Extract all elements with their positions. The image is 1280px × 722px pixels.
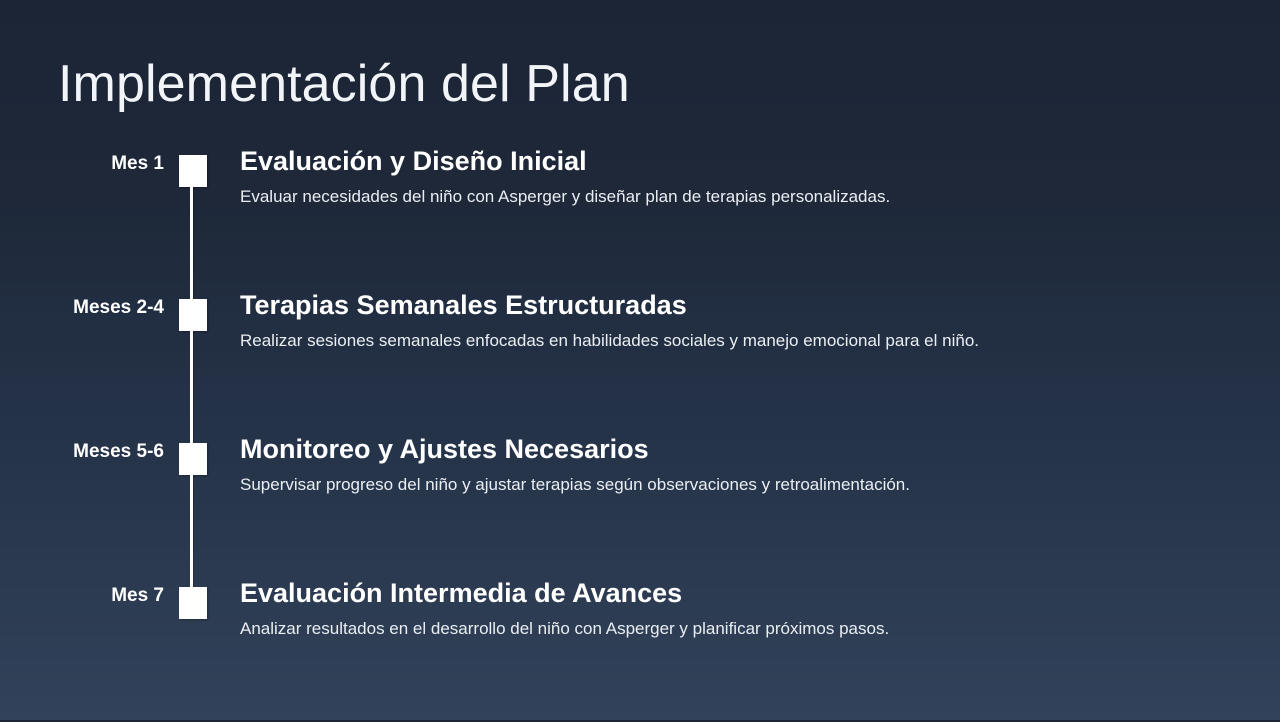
timeline-item: Meses 2-4 Terapias Semanales Estructurad… [0,290,1280,434]
timeline-period-label: Meses 5-6 [24,440,164,464]
timeline-item-description: Analizar resultados en el desarrollo del… [240,618,1240,641]
timeline-item-heading: Monitoreo y Ajustes Necesarios [240,434,1240,466]
timeline-item-body: Evaluación Intermedia de Avances Analiza… [240,578,1240,641]
timeline-period-label: Mes 7 [24,584,164,608]
timeline-period-label: Mes 1 [24,152,164,176]
timeline-item-description: Realizar sesiones semanales enfocadas en… [240,330,1240,353]
timeline-item-description: Evaluar necesidades del niño con Asperge… [240,186,1240,209]
timeline-period-label: Meses 2-4 [24,296,164,320]
timeline-item-body: Monitoreo y Ajustes Necesarios Supervisa… [240,434,1240,497]
timeline-item-heading: Evaluación Intermedia de Avances [240,578,1240,610]
timeline-connector-line [190,331,193,446]
page-title: Implementación del Plan [58,56,630,113]
timeline-square-marker-icon [179,155,207,187]
timeline-square-marker-icon [179,587,207,619]
timeline: Mes 1 Evaluación y Diseño Inicial Evalua… [0,146,1280,722]
timeline-item: Mes 7 Evaluación Intermedia de Avances A… [0,578,1280,722]
timeline-item-body: Terapias Semanales Estructuradas Realiza… [240,290,1240,353]
timeline-square-marker-icon [179,443,207,475]
timeline-item-description: Supervisar progreso del niño y ajustar t… [240,474,1240,497]
timeline-item-body: Evaluación y Diseño Inicial Evaluar nece… [240,146,1240,209]
timeline-connector-line [190,187,193,302]
timeline-item: Mes 1 Evaluación y Diseño Inicial Evalua… [0,146,1280,290]
timeline-square-marker-icon [179,299,207,331]
timeline-connector-line [190,475,193,590]
timeline-item-heading: Evaluación y Diseño Inicial [240,146,1240,178]
timeline-item: Meses 5-6 Monitoreo y Ajustes Necesarios… [0,434,1280,578]
timeline-item-heading: Terapias Semanales Estructuradas [240,290,1240,322]
slide: Implementación del Plan Mes 1 Evaluación… [0,0,1280,720]
